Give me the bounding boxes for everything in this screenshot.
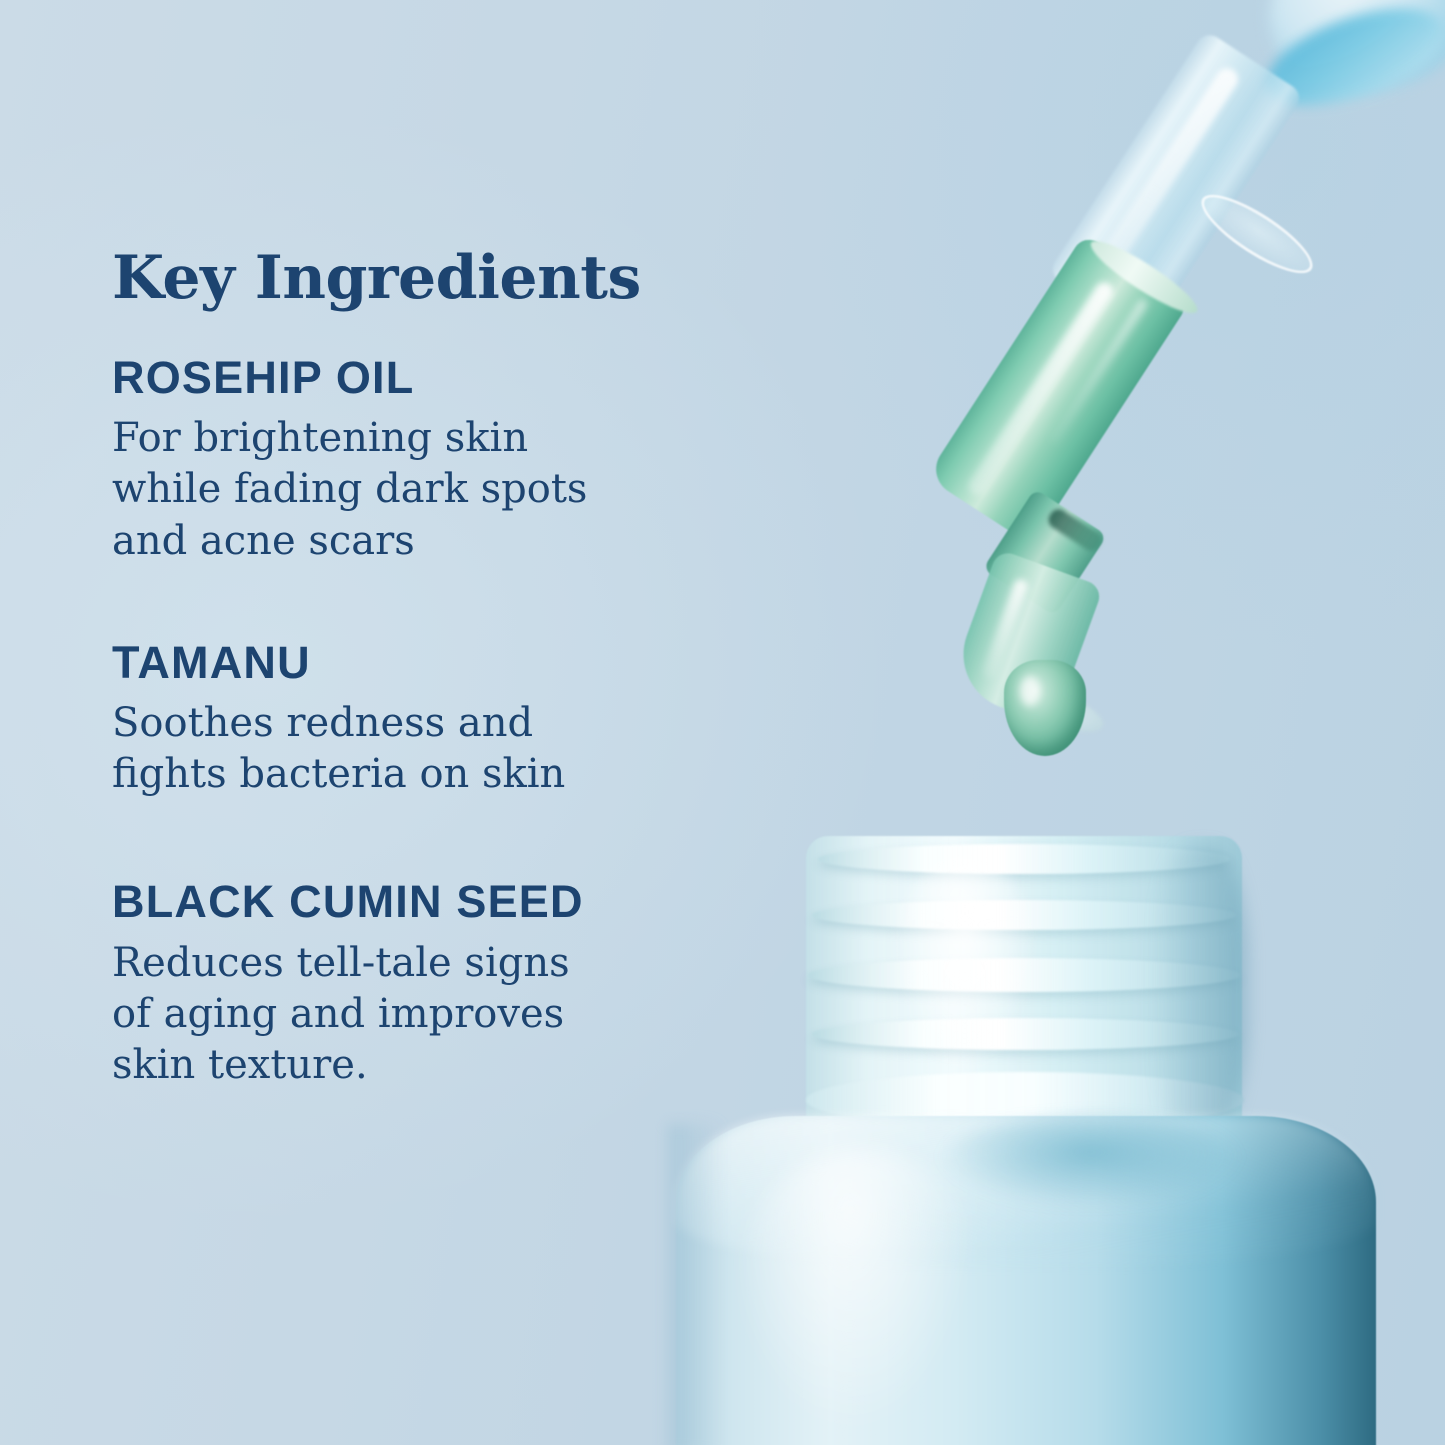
ingredient-description-line: Soothes redness and [112,698,752,749]
ingredient-name: ROSEHIP OIL [112,354,752,401]
ingredient-description-line: Reduces tell-tale signs [112,938,752,989]
ingredient-description-line: For brightening skin [112,413,752,464]
ingredient-description-line: while fading dark spots [112,464,752,515]
ingredient-block-tamanu: TAMANU Soothes redness and fights bacter… [112,639,752,801]
page-title: Key Ingredients [112,248,752,308]
ingredients-text-column: Key Ingredients ROSEHIP OIL For brighten… [112,248,752,1091]
ingredient-description: For brightening skin while fading dark s… [112,413,752,567]
ingredient-block-rosehip-oil: ROSEHIP OIL For brightening skin while f… [112,354,752,567]
ingredient-description-line: skin texture. [112,1040,752,1091]
ingredient-description-line: fights bacteria on skin [112,749,752,800]
ingredient-name: TAMANU [112,639,752,686]
ingredient-description: Soothes redness and fights bacteria on s… [112,698,752,800]
ingredient-description: Reduces tell-tale signs of aging and imp… [112,938,752,1092]
ingredient-name: BLACK CUMIN SEED [112,878,752,925]
product-ingredients-graphic: Key Ingredients ROSEHIP OIL For brighten… [0,0,1445,1445]
ingredient-block-black-cumin-seed: BLACK CUMIN SEED Reduces tell-tale signs… [112,878,752,1091]
ingredient-description-line: and acne scars [112,516,752,567]
ingredient-description-line: of aging and improves [112,989,752,1040]
